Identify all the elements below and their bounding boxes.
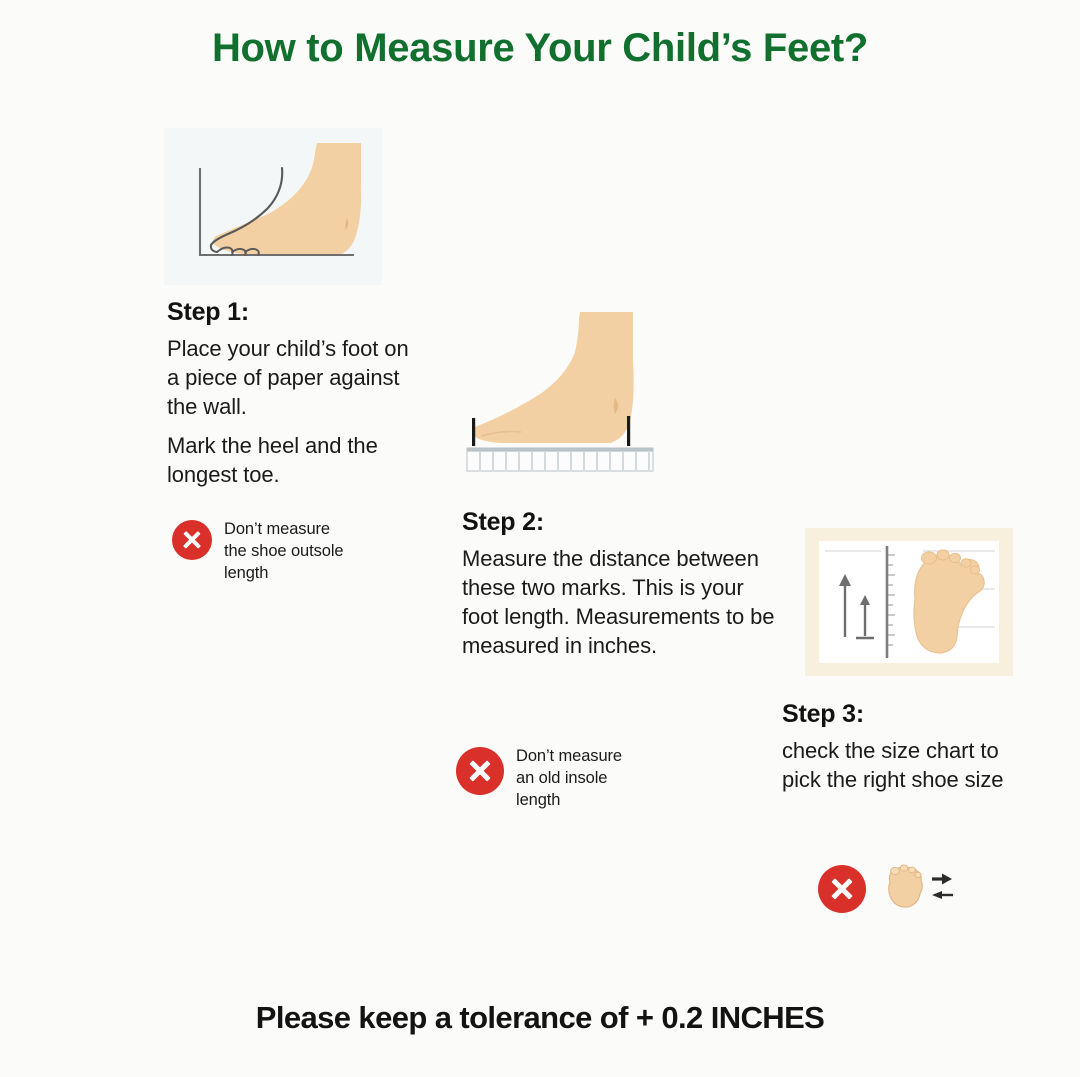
page-title: How to Measure Your Child’s Feet?	[0, 26, 1080, 71]
step2-warning-line-3: length	[516, 790, 622, 812]
infographic-page: How to Measure Your Child’s Feet? Step 1…	[0, 0, 1080, 1077]
step1-paragraph-1: Place your child’s foot on a piece of pa…	[167, 334, 419, 421]
step2-warning-line-2: an old insole	[516, 768, 622, 790]
step2-warning-text: Don’t measure an old insole length	[516, 745, 622, 811]
step3-text-block: Step 3: check the size chart to pick the…	[782, 700, 1032, 794]
step1-heading: Step 1:	[167, 298, 419, 327]
step2-body: Measure the distance between these two m…	[462, 544, 782, 660]
step3-paragraph-1: check the size chart to pick the right s…	[782, 736, 1032, 794]
step2-warning-line-1: Don’t measure	[516, 746, 622, 768]
step1-body: Place your child’s foot on a piece of pa…	[167, 334, 419, 489]
step1-warning-line-2: the shoe outsole	[224, 541, 344, 563]
foot-side-on-ruler-icon	[455, 300, 695, 482]
step1-illustration-panel	[164, 128, 382, 285]
step1-paragraph-2: Mark the heel and the longest toe.	[167, 431, 419, 489]
step3-heading: Step 3:	[782, 700, 1032, 729]
tolerance-note: Please keep a tolerance of + 0.2 INCHES	[0, 1000, 1080, 1036]
step1-warning-line-3: length	[224, 563, 344, 585]
step3-body: check the size chart to pick the right s…	[782, 736, 1032, 794]
step1-text-block: Step 1: Place your child’s foot on a pie…	[167, 298, 419, 489]
step2-illustration-panel	[455, 300, 695, 482]
step2-warning-badge: Don’t measure an old insole length	[456, 745, 676, 811]
step3-warning-badge	[818, 862, 998, 914]
red-x-circle-icon	[456, 747, 504, 795]
red-x-circle-icon	[818, 865, 866, 913]
step3-illustration-panel	[805, 528, 1013, 676]
step1-warning-badge: Don’t measure the shoe outsole length	[172, 518, 387, 584]
foot-sole-on-measuring-chart-icon	[819, 541, 999, 663]
step2-heading: Step 2:	[462, 508, 782, 537]
foot-sole-width-arrows-icon	[880, 862, 954, 914]
step2-paragraph-1: Measure the distance between these two m…	[462, 544, 782, 660]
foot-side-against-wall-icon	[164, 128, 382, 285]
step2-text-block: Step 2: Measure the distance between the…	[462, 508, 782, 660]
step1-warning-text: Don’t measure the shoe outsole length	[224, 518, 344, 584]
red-x-circle-icon	[172, 520, 212, 560]
step1-warning-line-1: Don’t measure	[224, 519, 344, 541]
step3-chart-sheet	[819, 541, 999, 663]
